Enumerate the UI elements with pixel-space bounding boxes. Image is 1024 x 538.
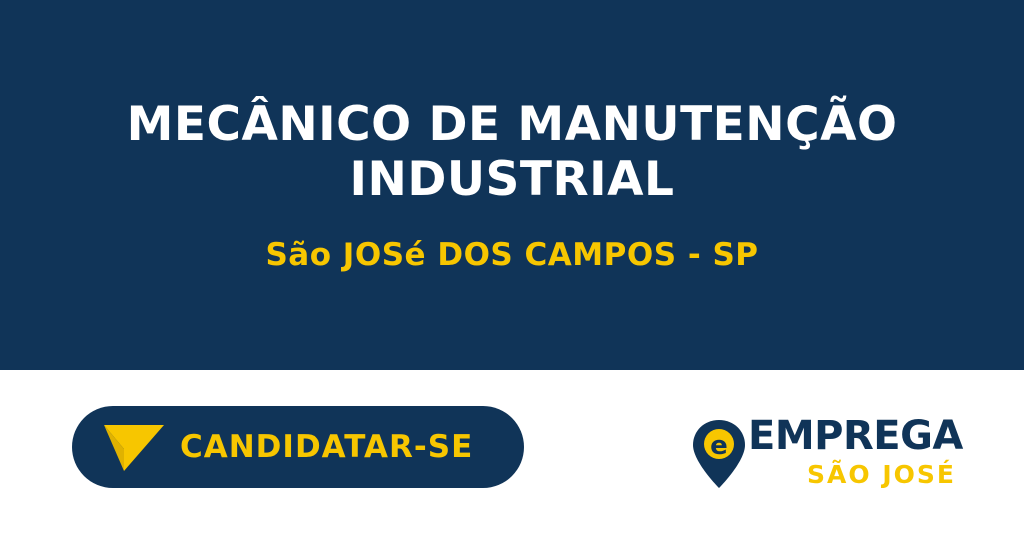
brand-subtitle: SÃO JOSÉ (748, 462, 960, 487)
location-pin-icon: e (690, 418, 748, 490)
brand-logo: e EMPREGA SÃO JOSÉ (690, 414, 960, 494)
footer-bar: CANDIDATAR-SE e EMPREGA SÃO JOSÉ (0, 370, 1024, 538)
brand-text: EMPREGA SÃO JOSÉ (748, 416, 960, 487)
apply-button-label: CANDIDATAR-SE (180, 429, 473, 465)
hero-banner: MECÂNICO DE MANUTENÇÃO INDUSTRIAL São JO… (0, 0, 1024, 370)
page-title: MECÂNICO DE MANUTENÇÃO INDUSTRIAL (62, 97, 962, 207)
job-location: São JOSé DOS CAMPOS - SP (265, 237, 758, 273)
job-posting-card: MECÂNICO DE MANUTENÇÃO INDUSTRIAL São JO… (0, 0, 1024, 538)
svg-text:e: e (710, 431, 728, 461)
paper-plane-icon (102, 419, 166, 475)
apply-button[interactable]: CANDIDATAR-SE (72, 406, 524, 488)
brand-name: EMPREGA (748, 416, 960, 456)
